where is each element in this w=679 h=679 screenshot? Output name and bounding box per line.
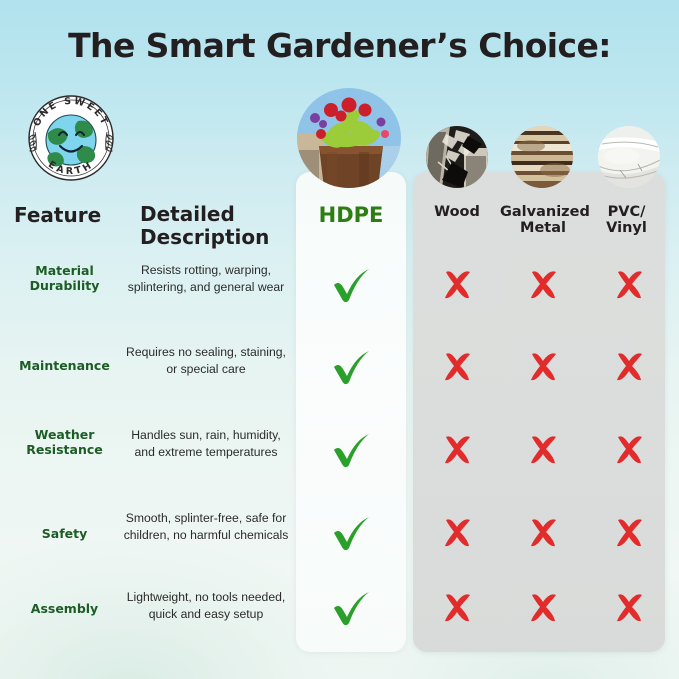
cross-icon-wood	[433, 344, 481, 388]
cross-icon-metal	[519, 262, 567, 306]
row-feature-label: Maintenance	[2, 358, 127, 373]
cross-icon-pvc	[605, 262, 653, 306]
hdpe-column-panel	[296, 172, 406, 652]
check-icon-hdpe	[327, 344, 375, 388]
row-feature-label: Material Durability	[2, 263, 127, 293]
column-header-hdpe: HDPE	[296, 203, 406, 227]
row-description: Handles sun, rain, humidity, and extreme…	[120, 427, 292, 461]
cross-icon-metal	[519, 344, 567, 388]
galvanized-metal-photo	[511, 126, 573, 188]
header-feature: Feature	[14, 203, 124, 227]
pvc-vinyl-photo	[598, 126, 660, 188]
competitors-column-panel	[413, 172, 665, 652]
check-icon-hdpe	[327, 585, 375, 629]
row-description: Requires no sealing, staining, or specia…	[120, 344, 292, 378]
cross-icon-wood	[433, 427, 481, 471]
cross-icon-pvc	[605, 510, 653, 554]
header-detailed-description: Detailed Description	[140, 203, 285, 249]
cross-icon-wood	[433, 510, 481, 554]
row-feature-label: Weather Resistance	[2, 427, 127, 457]
column-header-galvanized-metal: Galvanized Metal	[500, 204, 586, 236]
row-description: Smooth, splinter-free, safe for children…	[120, 510, 292, 544]
brand-logo: ONE SWEET EARTH	[21, 88, 121, 188]
wood-photo	[426, 126, 488, 188]
check-icon-hdpe	[327, 427, 375, 471]
check-icon-hdpe	[327, 510, 375, 554]
cross-icon-metal	[519, 427, 567, 471]
cross-icon-wood	[433, 585, 481, 629]
column-header-pvc-vinyl: PVC/ Vinyl	[588, 204, 665, 236]
row-description: Lightweight, no tools needed, quick and …	[120, 589, 292, 623]
cross-icon-wood	[433, 262, 481, 306]
hdpe-product-photo	[297, 88, 401, 188]
cross-icon-pvc	[605, 344, 653, 388]
row-feature-label: Assembly	[2, 601, 127, 616]
row-description: Resists rotting, warping, splintering, a…	[120, 262, 292, 296]
column-header-wood: Wood	[413, 204, 501, 220]
cross-icon-pvc	[605, 585, 653, 629]
row-feature-label: Safety	[2, 526, 127, 541]
cross-icon-metal	[519, 510, 567, 554]
page-title: The Smart Gardener’s Choice:	[0, 26, 679, 65]
cross-icon-pvc	[605, 427, 653, 471]
check-icon-hdpe	[327, 262, 375, 306]
cross-icon-metal	[519, 585, 567, 629]
